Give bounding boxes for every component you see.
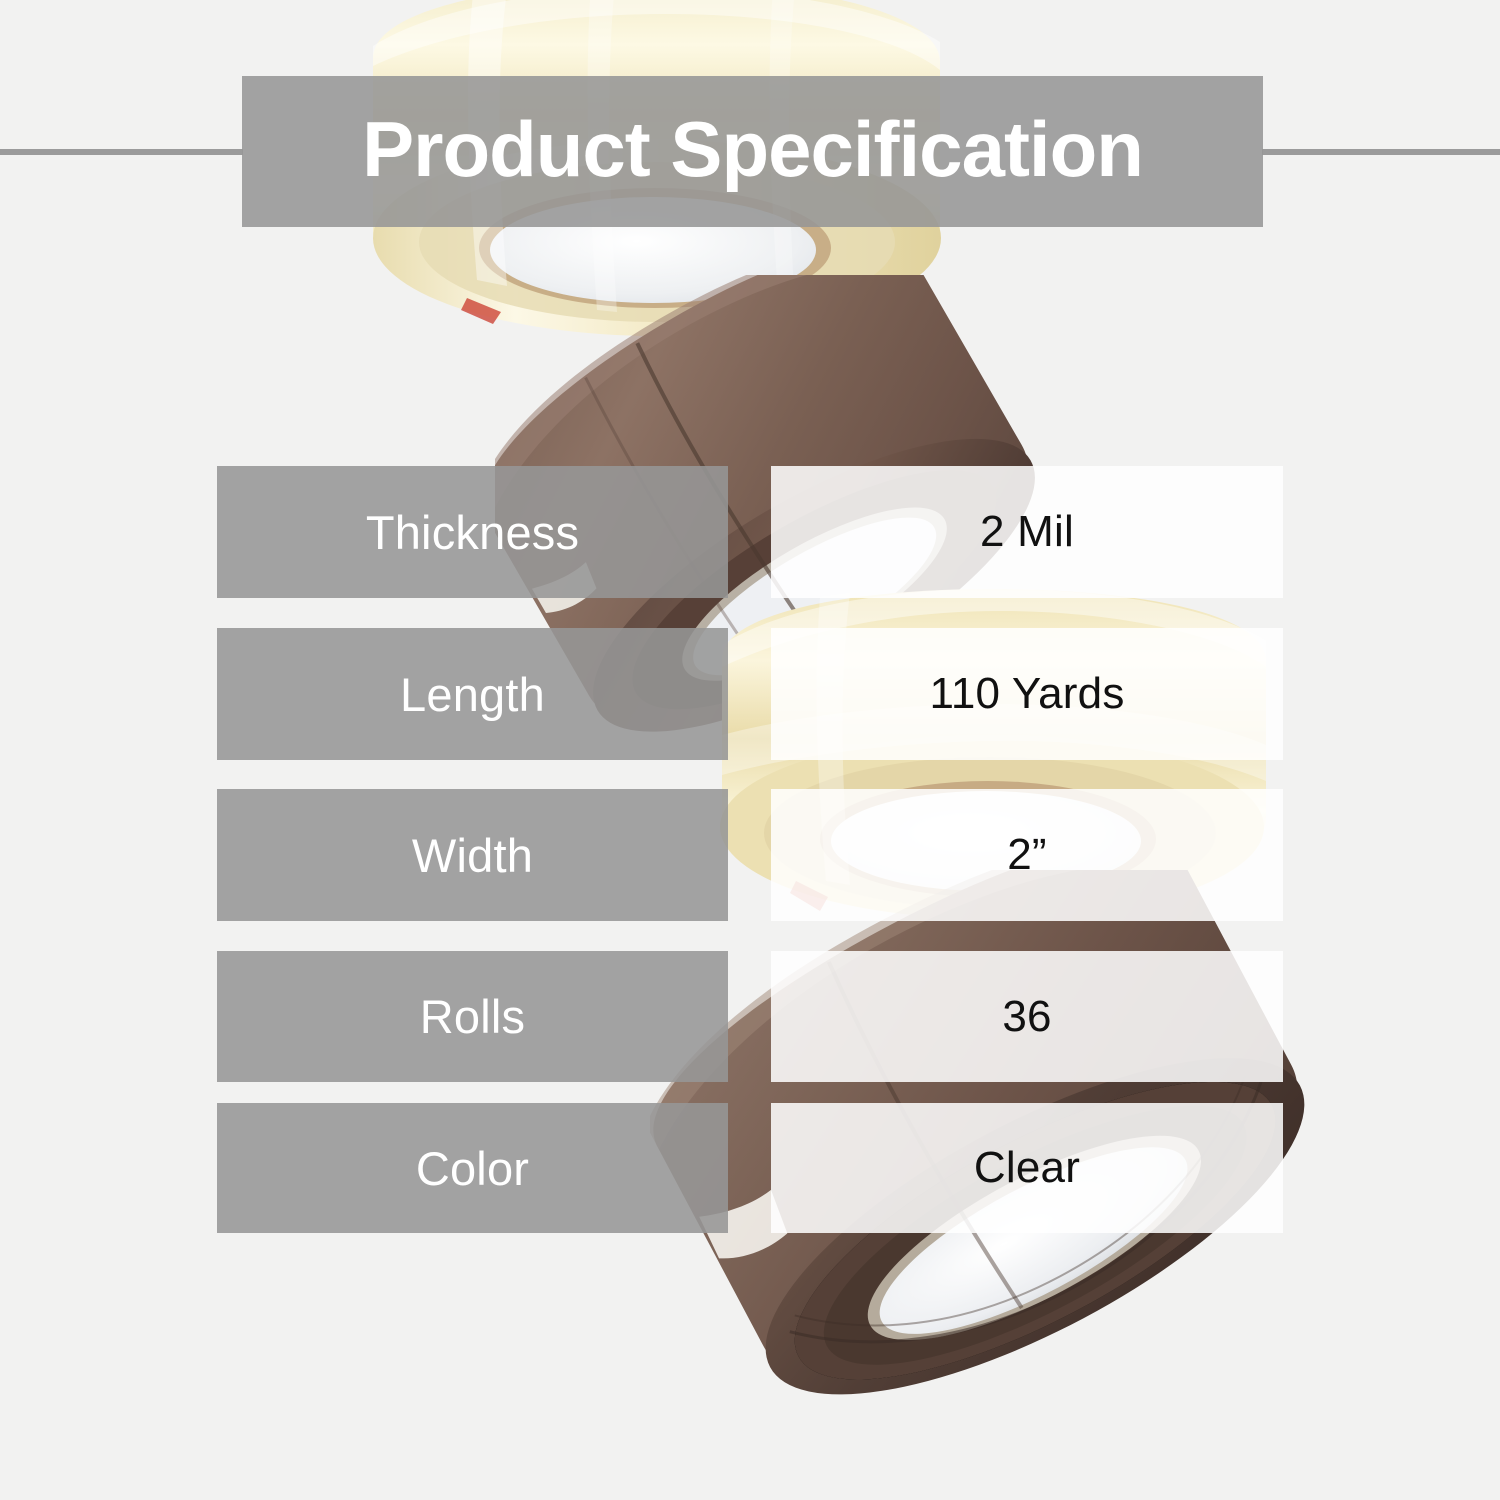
spec-label-text: Color xyxy=(416,1145,529,1192)
spec-value-text: 36 xyxy=(1002,995,1051,1039)
spec-label-cell-thickness: Thickness xyxy=(217,466,728,598)
spec-value-cell-thickness: 2 Mil xyxy=(771,466,1283,598)
spec-label-text: Width xyxy=(412,832,533,879)
table-row: Length 110 Yards xyxy=(0,628,1500,760)
spec-value-text: Clear xyxy=(974,1146,1080,1190)
product-specification-infographic: Product Specification Thickness 2 Mil Le… xyxy=(0,0,1500,1500)
header-rule-right xyxy=(1262,149,1500,155)
spec-label-cell-rolls: Rolls xyxy=(217,951,728,1082)
table-row: Color Clear xyxy=(0,1103,1500,1233)
header-band: Product Specification xyxy=(242,76,1263,227)
spec-value-cell-color: Clear xyxy=(771,1103,1283,1233)
table-row: Rolls 36 xyxy=(0,951,1500,1082)
spec-label-cell-color: Color xyxy=(217,1103,728,1233)
spec-label-text: Thickness xyxy=(366,509,579,556)
spec-value-text: 2 Mil xyxy=(980,510,1074,554)
spec-value-text: 2” xyxy=(1007,833,1047,877)
table-row: Thickness 2 Mil xyxy=(0,466,1500,598)
header-rule-left xyxy=(0,149,243,155)
spec-value-text: 110 Yards xyxy=(929,672,1124,716)
table-row: Width 2” xyxy=(0,789,1500,921)
spec-value-cell-width: 2” xyxy=(771,789,1283,921)
spec-value-cell-rolls: 36 xyxy=(771,951,1283,1082)
spec-label-text: Length xyxy=(400,671,545,718)
spec-value-cell-length: 110 Yards xyxy=(771,628,1283,760)
spec-label-cell-length: Length xyxy=(217,628,728,760)
page-title: Product Specification xyxy=(362,110,1143,194)
spec-label-cell-width: Width xyxy=(217,789,728,921)
spec-label-text: Rolls xyxy=(420,993,525,1040)
